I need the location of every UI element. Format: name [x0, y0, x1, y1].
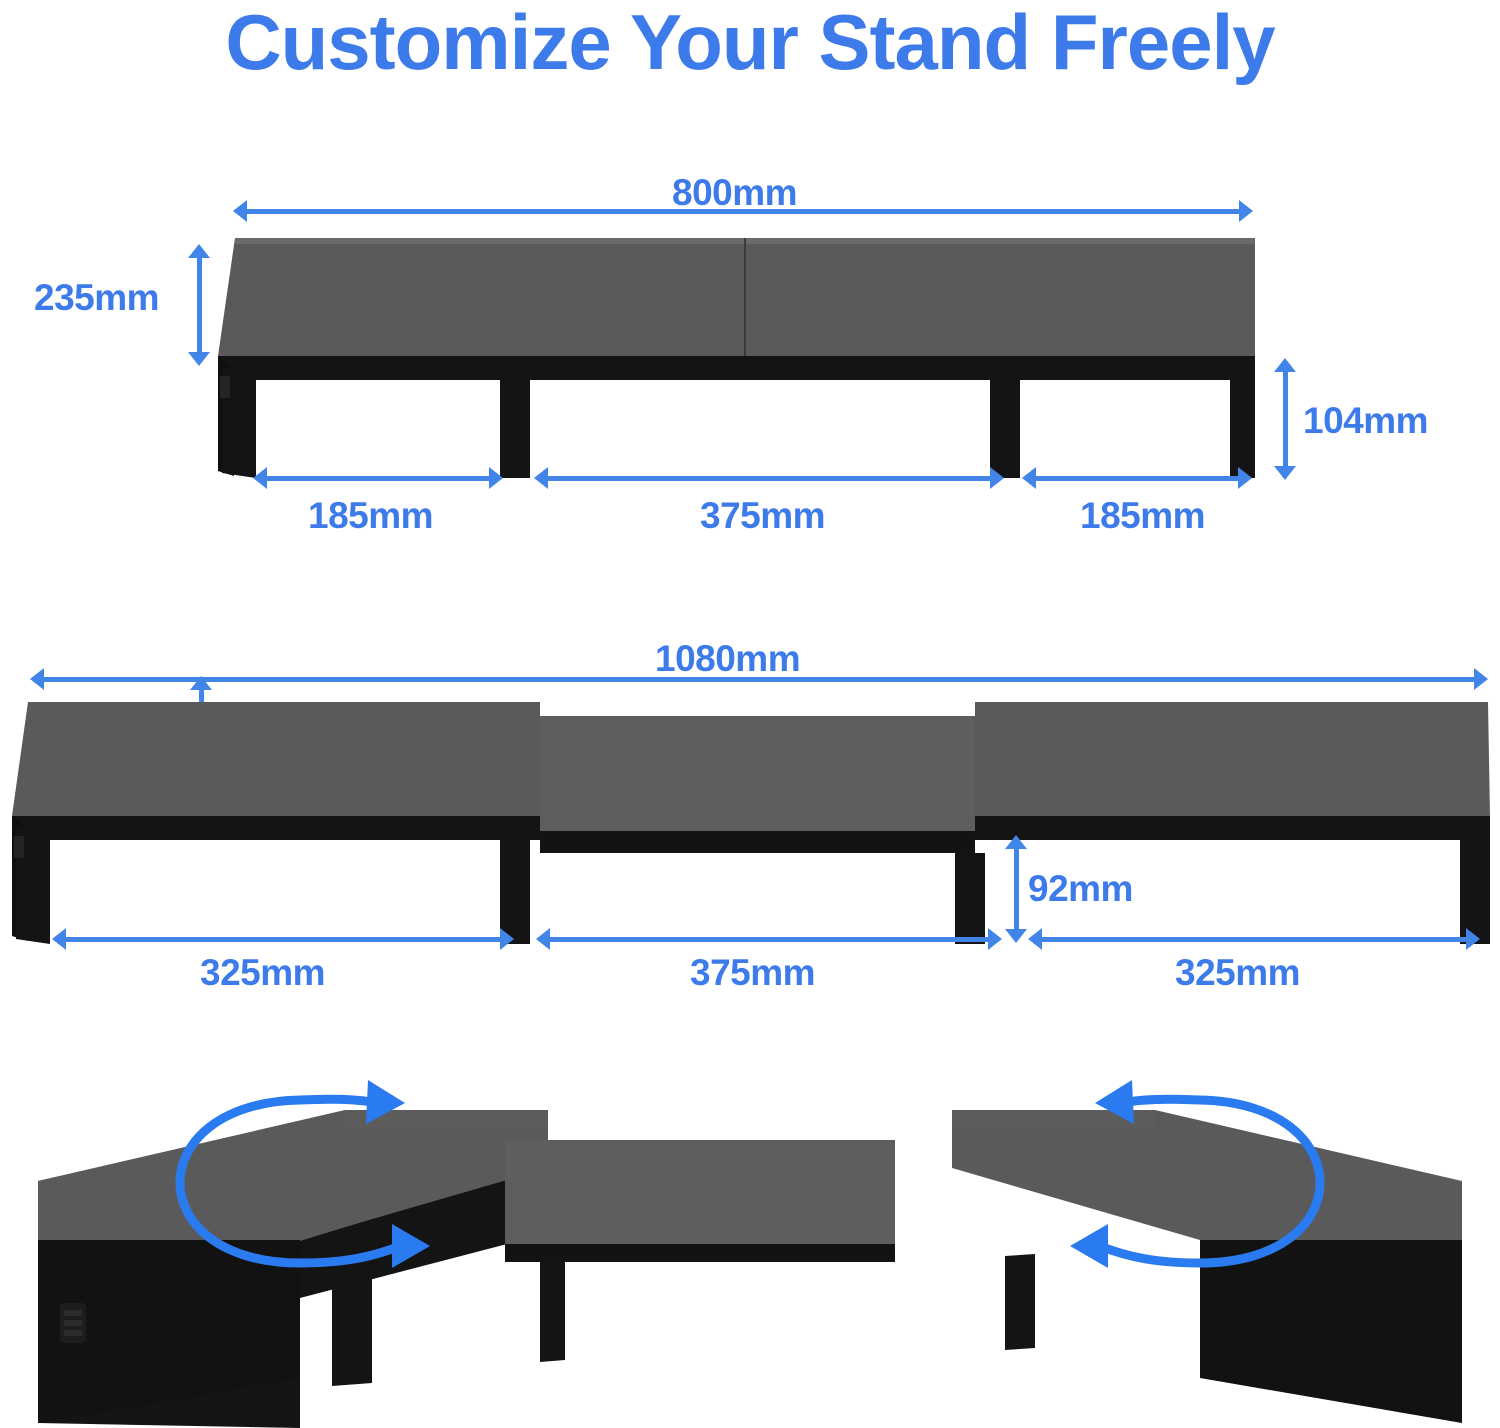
- dimension-label-left-span-185: 185mm: [308, 495, 433, 537]
- dimension-label-right-span-325: 325mm: [1175, 952, 1300, 994]
- dimension-label-right-span-185: 185mm: [1080, 495, 1205, 537]
- dimension-arrow-center-span-375-top: [534, 467, 1004, 489]
- dimension-label-height-104: 104mm: [1303, 400, 1428, 442]
- dimension-label-center-span-375-mid: 375mm: [690, 952, 815, 994]
- infographic-page: Customize Your Stand Freely 800mm 235mm: [0, 0, 1500, 1427]
- dimension-arrow-center-clearance-92: [1005, 835, 1027, 943]
- dimension-arrow-height-104: [1274, 358, 1296, 480]
- dimension-label-center-span-375-top: 375mm: [700, 495, 825, 537]
- dimension-arrow-right-span-185: [1022, 467, 1252, 489]
- dimension-label-left-span-325: 325mm: [200, 952, 325, 994]
- dimension-arrow-center-span-375-mid: [536, 928, 1002, 950]
- dimension-label-total-width-1080: 1080mm: [655, 638, 800, 680]
- dimension-label-total-width-800: 800mm: [672, 172, 797, 214]
- page-title: Customize Your Stand Freely: [0, 2, 1500, 84]
- stand-illustration-compact: [200, 228, 1300, 498]
- dimension-label-depth-235-top: 235mm: [34, 277, 159, 319]
- dimension-arrow-left-span-185: [253, 467, 503, 489]
- dimension-arrow-left-span-325: [52, 928, 514, 950]
- dimension-arrow-right-span-325: [1028, 928, 1480, 950]
- dimension-label-center-clearance-92: 92mm: [1028, 868, 1133, 910]
- stand-illustration-rotating: [0, 1048, 1500, 1428]
